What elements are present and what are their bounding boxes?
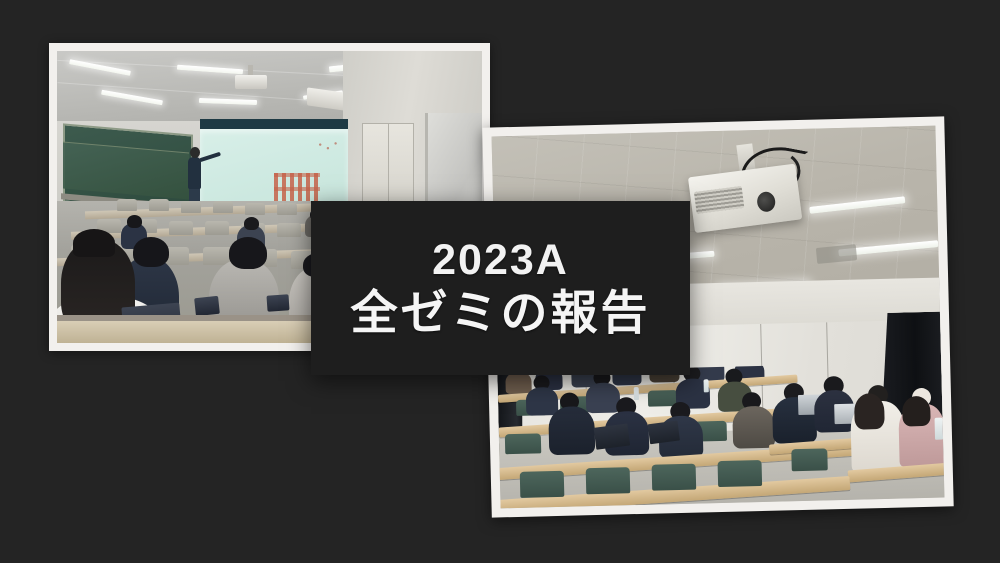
student-standing — [548, 406, 595, 455]
laptop — [594, 424, 631, 450]
screen-slide-text — [274, 173, 320, 201]
chair — [169, 221, 193, 235]
screen-decoration — [318, 141, 340, 153]
chair — [149, 199, 169, 211]
chair — [245, 203, 265, 215]
student — [526, 387, 559, 416]
student — [586, 382, 621, 413]
student-head — [244, 217, 259, 230]
title-line-subject: 全ゼミの報告 — [351, 287, 651, 339]
laptop — [266, 294, 289, 311]
student-hair — [854, 393, 885, 430]
chair — [791, 448, 828, 471]
student-foreground-bun — [73, 229, 115, 257]
chair — [117, 199, 137, 211]
chair — [586, 467, 631, 494]
water-bottle — [634, 387, 639, 400]
presenter-head — [190, 147, 200, 158]
laptop — [648, 421, 680, 445]
chair — [718, 460, 763, 487]
student-head — [127, 215, 142, 228]
chair — [277, 203, 297, 215]
student-head — [133, 237, 169, 267]
laptop — [194, 296, 220, 316]
slide-canvas: 2023A 全ゼミの報告 — [0, 0, 1000, 563]
student — [732, 406, 775, 449]
water-bottle — [704, 379, 709, 392]
chair — [205, 221, 229, 235]
student-head — [229, 237, 267, 269]
chair — [277, 223, 301, 237]
students-area — [497, 362, 944, 509]
chair — [520, 471, 565, 498]
chair — [181, 201, 201, 213]
title-line-year: 2023A — [432, 238, 569, 283]
water-bottle — [935, 418, 944, 440]
projector-icon — [235, 75, 267, 89]
title-card: 2023A 全ゼミの報告 — [311, 201, 690, 375]
chair — [652, 464, 697, 491]
chair — [213, 201, 233, 213]
chair — [505, 433, 541, 454]
presenter-body — [188, 157, 201, 189]
student-hair — [902, 396, 931, 427]
